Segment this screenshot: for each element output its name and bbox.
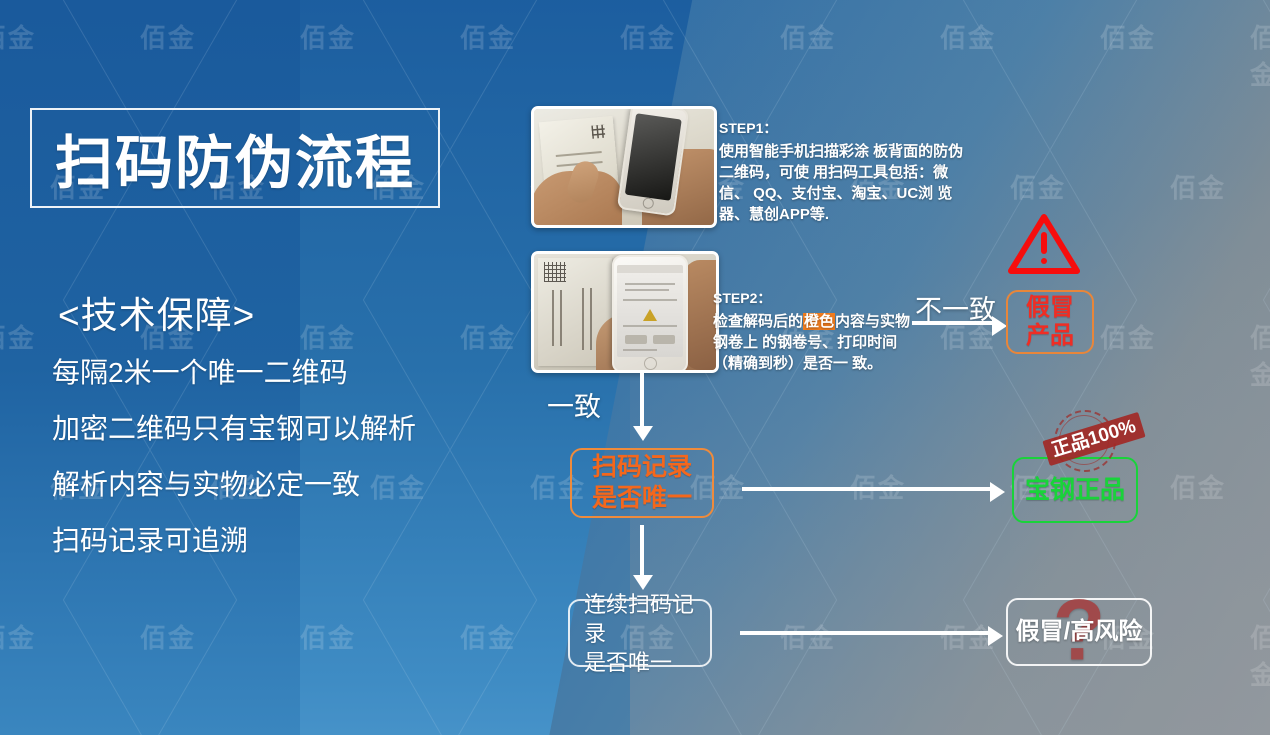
genuine-stamp-icon: 正品100%: [1048, 408, 1140, 470]
node-scan-record-unique-line1: 扫码记录: [592, 452, 692, 483]
arrow-match-head: [633, 426, 653, 441]
photo-scan-result-screen: [531, 251, 719, 373]
watermark-text: 佰金: [300, 618, 356, 655]
list-item: 加密二维码只有宝钢可以解析: [52, 401, 522, 457]
label-text-line: [582, 288, 584, 350]
step1-body: 使用智能手机扫描彩涂 板背面的防伪二维码，可使 用扫码工具包括：微信、 QQ、支…: [719, 141, 969, 225]
arrow-match-line: [640, 370, 644, 428]
step2-body: 检查解码后的橙色内容与实物钢卷上 的钢卷号、打印时间 （精确到秒）是否一 致。: [713, 311, 915, 374]
branch-label-match: 一致: [547, 385, 601, 424]
screen-button: [625, 335, 647, 344]
screen-text-line: [623, 325, 677, 327]
watermark-text: 佰金: [460, 18, 516, 55]
title-box: 扫码防伪流程: [30, 108, 440, 208]
watermark-text: 佰金: [1250, 618, 1270, 692]
screen-text-line: [625, 289, 669, 291]
node-fake-product-line1: 假冒: [1026, 294, 1074, 322]
arrow-risk-line: [740, 631, 990, 635]
qr-code-mark: [544, 262, 566, 282]
watermark-text: 佰金: [140, 618, 196, 655]
arrow-continuous-line: [640, 525, 644, 577]
step2-text-before: 检查解码后的: [713, 313, 803, 330]
arrow-risk-head: [988, 626, 1003, 646]
step2-text: STEP2： 检查解码后的橙色内容与实物钢卷上 的钢卷号、打印时间 （精确到秒）…: [713, 288, 915, 374]
list-item: 解析内容与实物必定一致: [52, 457, 522, 513]
watermark-text: 佰金: [780, 618, 836, 655]
list-item: 扫码记录可追溯: [52, 513, 522, 569]
node-genuine-label: 宝钢正品: [1025, 475, 1125, 505]
label-text-line: [552, 290, 554, 346]
node-fake-product-line2: 产品: [1026, 322, 1074, 350]
label-text-line: [590, 288, 592, 350]
node-fake-product: 假冒 产品: [1006, 290, 1094, 354]
smartphone: [612, 255, 688, 373]
home-button: [644, 357, 657, 370]
screen-text-line: [623, 299, 677, 301]
watermark-text: 佰金: [0, 618, 36, 655]
qr-code-mark: [591, 125, 605, 139]
watermark-text: 佰金: [940, 18, 996, 55]
watermark-text: 佰金: [0, 318, 36, 355]
label-text-line: [560, 290, 562, 346]
watermark-text: 佰金: [1010, 168, 1066, 205]
screen-text-line: [623, 349, 657, 351]
watermark-text: 佰金: [300, 18, 356, 55]
watermark-text: 佰金: [1170, 468, 1226, 505]
phone-screen: [617, 265, 683, 357]
subtitle: <技术保障>: [58, 285, 255, 339]
watermark-text: 佰金: [460, 618, 516, 655]
screen-text-line: [625, 283, 675, 285]
arrow-mismatch-head: [992, 316, 1007, 336]
node-high-risk: ? 假冒/高风险: [1006, 598, 1152, 666]
slide-canvas: 佰金佰金佰金佰金佰金佰金佰金佰金佰金佰金佰金佰金佰金佰金佰金佰金佰金佰金佰金佰金…: [0, 0, 1270, 735]
watermark-text: 佰金: [1100, 318, 1156, 355]
arrow-genuine-head: [990, 482, 1005, 502]
arrow-mismatch-line: [912, 321, 994, 325]
node-scan-record-unique-line2: 是否唯一: [592, 483, 692, 514]
node-continuous-scan-unique: 连续扫码记录 是否唯一: [568, 599, 712, 667]
home-button: [642, 197, 654, 209]
arrow-genuine-line: [742, 487, 992, 491]
page-title: 扫码防伪流程: [55, 116, 415, 200]
step2-highlight: 橙色: [803, 313, 835, 330]
warning-triangle-icon: [643, 309, 657, 321]
watermark-text: 佰金: [1250, 318, 1270, 392]
phone-screen: [625, 113, 682, 201]
node-scan-record-unique: 扫码记录 是否唯一: [570, 448, 714, 518]
bullet-list: 每隔2米一个唯一二维码 加密二维码只有宝钢可以解析 解析内容与实物必定一致 扫码…: [52, 345, 522, 569]
watermark-text: 佰金: [1100, 18, 1156, 55]
photo-scan-phone-card: [531, 106, 717, 228]
list-item: 每隔2米一个唯一二维码: [52, 345, 522, 401]
card-line: [556, 151, 602, 157]
node-high-risk-label: 假冒/高风险: [1016, 617, 1143, 647]
node-continuous-line2: 是否唯一: [584, 648, 672, 677]
warning-triangle-icon: [1006, 212, 1082, 276]
step1-text: STEP1： 使用智能手机扫描彩涂 板背面的防伪二维码，可使 用扫码工具包括：微…: [719, 118, 969, 225]
watermark-text: 佰金: [0, 18, 36, 55]
step2-label: STEP2：: [713, 288, 915, 308]
status-bar: [617, 265, 683, 273]
step1-label: STEP1：: [719, 118, 969, 138]
screen-button: [653, 335, 675, 344]
watermark-text: 佰金: [780, 18, 836, 55]
watermark-text: 佰金: [1250, 18, 1270, 92]
watermark-text: 佰金: [1170, 168, 1226, 205]
watermark-text: 佰金: [140, 18, 196, 55]
node-continuous-line1: 连续扫码记录: [584, 590, 710, 648]
arrow-continuous-head: [633, 575, 653, 590]
watermark-text: 佰金: [620, 18, 676, 55]
